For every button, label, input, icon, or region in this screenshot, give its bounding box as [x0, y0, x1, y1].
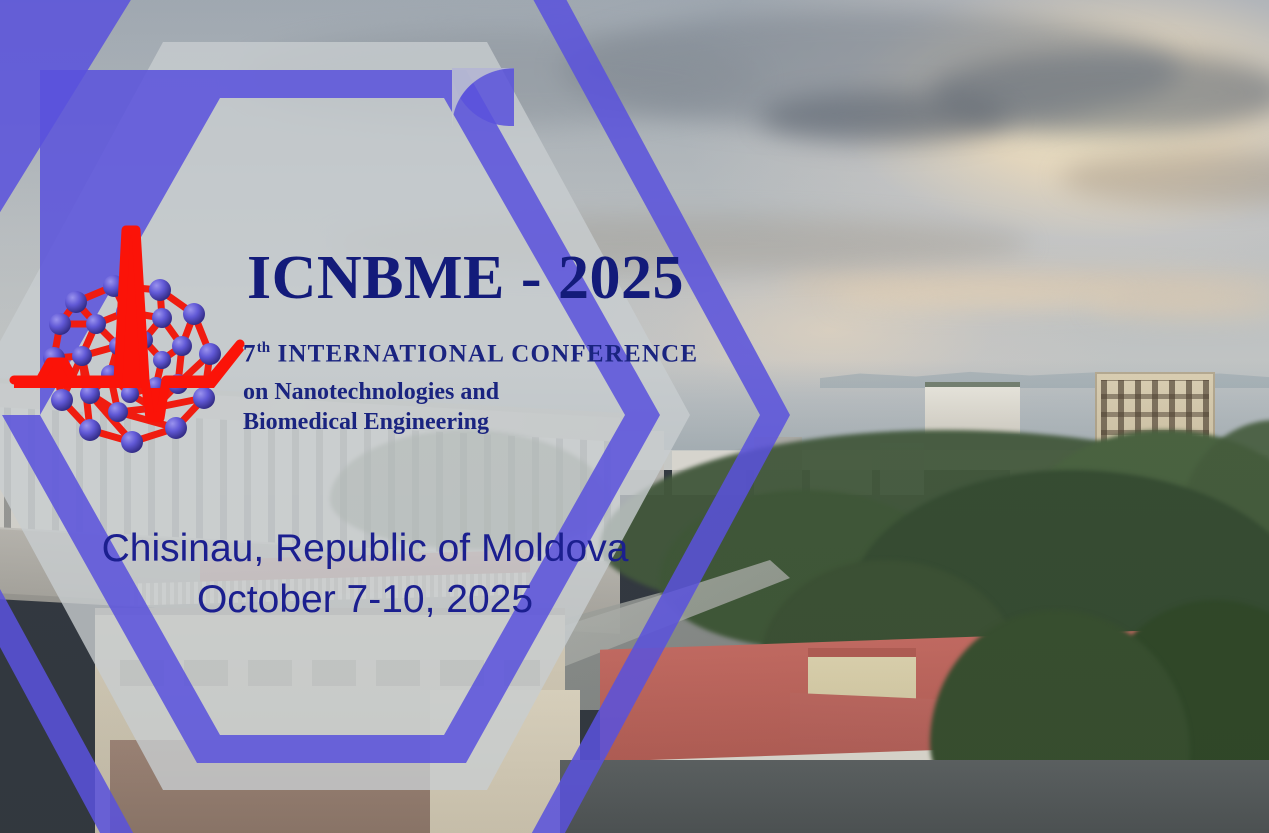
icnbme-logo [14, 228, 244, 473]
hexagon-notch-cutout [452, 68, 514, 126]
edition-ordinal: th [257, 340, 270, 356]
topic-line-1: on Nanotechnologies and [243, 377, 499, 407]
edition-number: 7 [243, 340, 257, 367]
edition-text: INTERNATIONAL CONFERENCE [270, 340, 698, 367]
dates-text: October 7-10, 2025 [100, 578, 630, 622]
conference-banner: ICNBME - 2025 7th INTERNATIONAL CONFEREN… [0, 0, 1269, 833]
edition-line: 7th INTERNATIONAL CONFERENCE [243, 340, 698, 368]
location-text: Chisinau, Republic of Moldova [100, 527, 630, 571]
conference-topic: on Nanotechnologies and Biomedical Engin… [243, 377, 499, 437]
page-title: ICNBME - 2025 [247, 243, 684, 314]
topic-line-2: Biomedical Engineering [243, 407, 499, 437]
